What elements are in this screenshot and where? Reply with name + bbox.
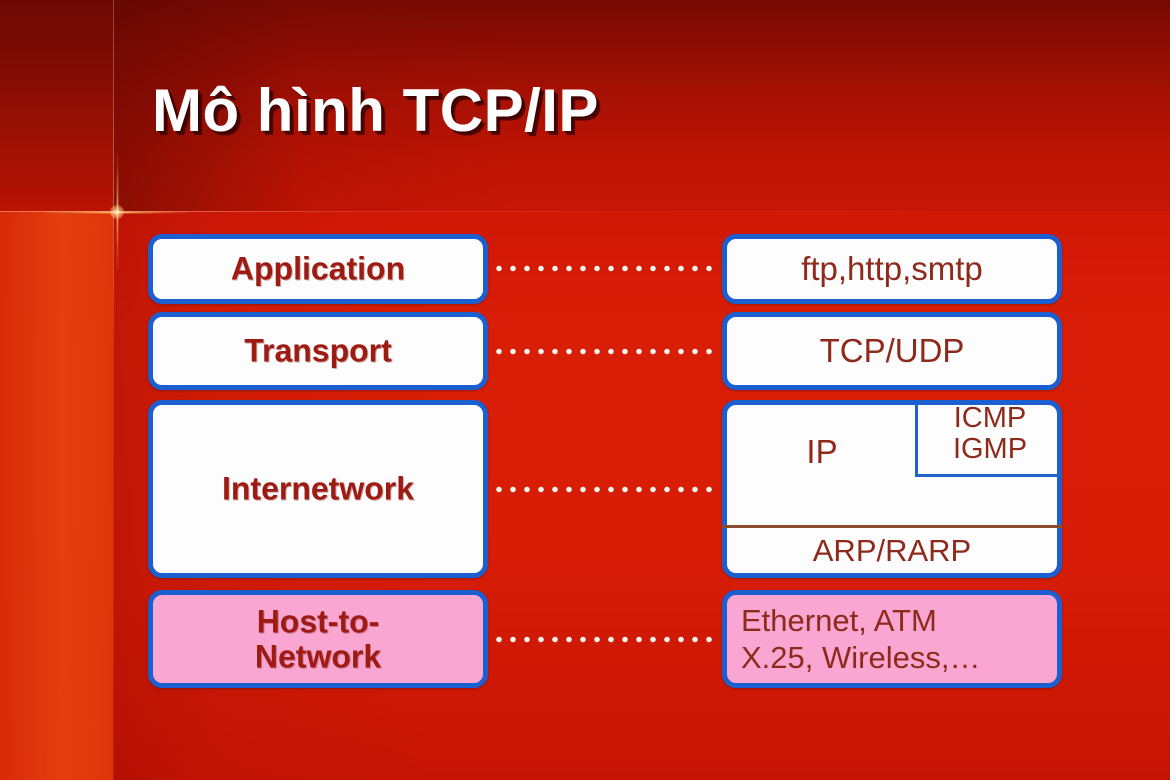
layer-label-application: Application [153, 252, 483, 287]
layer-label-host-to-network-line1: Host-to- [153, 604, 483, 639]
slide-canvas: Mô hình TCP/IP Application Transport Int… [0, 0, 1170, 780]
connector-dotted-application [492, 265, 720, 272]
connector-dotted-host-to-network [492, 636, 720, 643]
layer-label-host-to-network: Host-to- Network [153, 604, 483, 673]
protocol-label-arp-rarp: ARP/RARP [727, 533, 1057, 569]
protocol-label-icmp: ICMP [918, 403, 1062, 434]
protocol-label-igmp: IGMP [918, 434, 1062, 465]
protocol-box-application[interactable]: ftp,http,smtp [722, 234, 1062, 304]
divider-arp [722, 525, 1062, 528]
tcpip-model-diagram: Application Transport Internetwork Host-… [0, 0, 1170, 780]
layer-box-transport[interactable]: Transport [148, 312, 488, 390]
protocol-label-host-to-network-line2: X.25, Wireless,… [741, 639, 1057, 676]
layer-box-application[interactable]: Application [148, 234, 488, 304]
connector-dotted-internetwork [492, 486, 720, 493]
layer-label-internetwork: Internetwork [153, 472, 483, 507]
layer-box-internetwork[interactable]: Internetwork [148, 400, 488, 578]
protocol-label-transport: TCP/UDP [727, 333, 1057, 369]
protocol-box-transport[interactable]: TCP/UDP [722, 312, 1062, 390]
protocol-label-host-to-network: Ethernet, ATM X.25, Wireless,… [727, 602, 1057, 676]
protocol-label-host-to-network-line1: Ethernet, ATM [741, 602, 1057, 639]
layer-label-host-to-network-line2: Network [153, 639, 483, 674]
protocol-box-internetwork[interactable]: IP ICMP IGMP ARP/RARP [722, 400, 1062, 578]
layer-label-transport: Transport [153, 334, 483, 369]
layer-box-host-to-network[interactable]: Host-to- Network [148, 590, 488, 688]
protocol-subbox-icmp-igmp[interactable]: ICMP IGMP [915, 400, 1062, 477]
protocol-label-application: ftp,http,smtp [727, 251, 1057, 287]
protocol-label-ip: IP [727, 433, 917, 471]
protocol-box-host-to-network[interactable]: Ethernet, ATM X.25, Wireless,… [722, 590, 1062, 688]
connector-dotted-transport [492, 348, 720, 355]
